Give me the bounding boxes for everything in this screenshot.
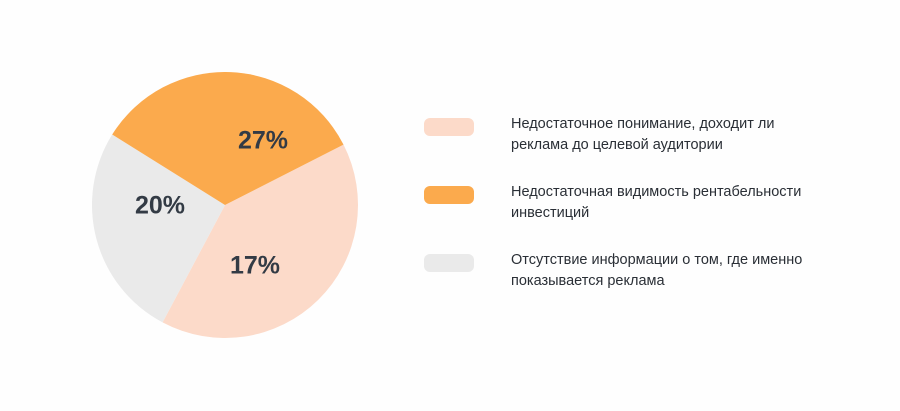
pie-slice-value-label: 27% [238,127,288,155]
legend-swatch-icon [424,186,474,204]
pie-chart-svg: 27%17%20% [92,72,358,338]
legend-item-label: Недостаточное понимание, доходит ли рекл… [511,114,834,156]
legend-item[interactable]: Недостаточная видимость рентабельности и… [424,182,834,224]
pie-slices [92,72,358,338]
pie-slice-value-label: 20% [135,192,185,220]
legend-item[interactable]: Недостаточное понимание, доходит ли рекл… [424,114,834,156]
pie-slice-value-label: 17% [230,252,280,280]
legend-swatch-icon [424,118,474,136]
chart-canvas: 27%17%20% Недостаточное понимание, доход… [0,0,900,411]
legend-swatch-icon [424,254,474,272]
chart-legend: Недостаточное понимание, доходит ли рекл… [424,114,834,292]
legend-item-label: Недостаточная видимость рентабельности и… [511,182,834,224]
legend-item-label: Отсутствие информации о том, где именно … [511,250,834,292]
legend-item[interactable]: Отсутствие информации о том, где именно … [424,250,834,292]
pie-chart: 27%17%20% [92,72,358,338]
